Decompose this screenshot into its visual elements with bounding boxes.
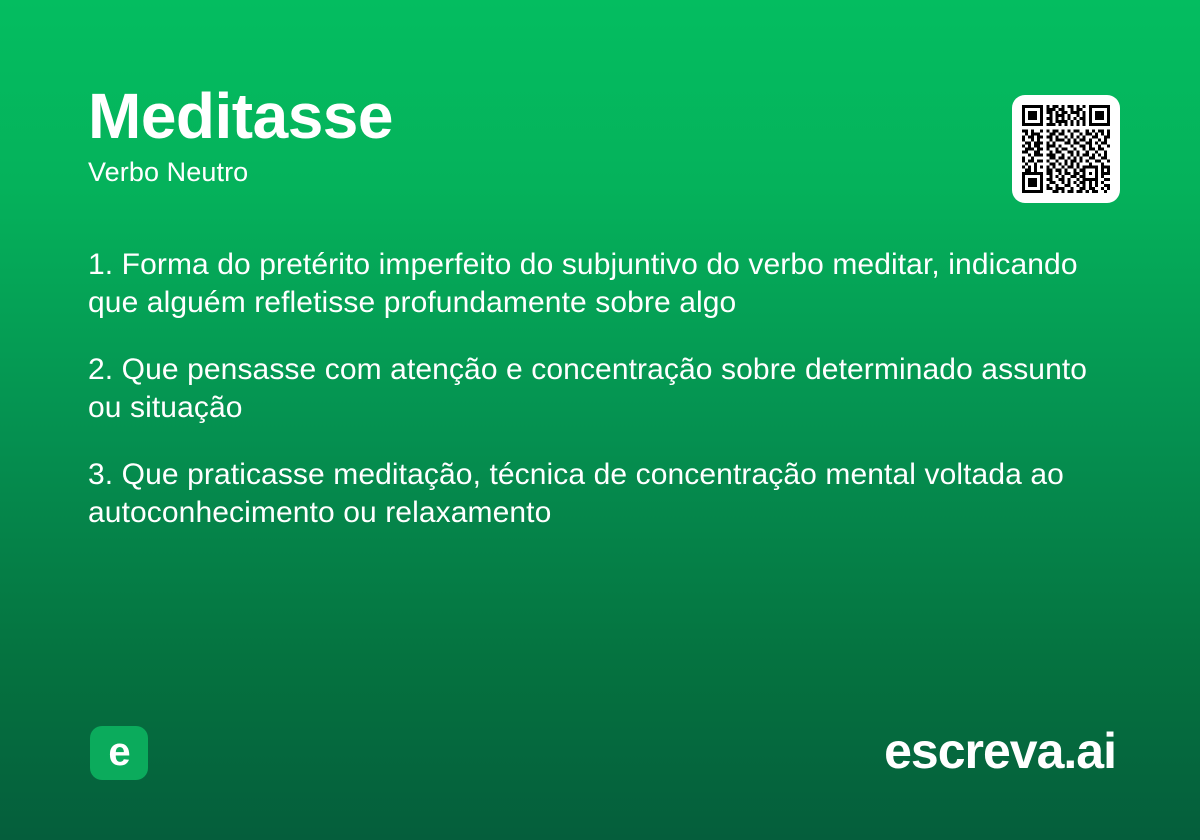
definition-item: 2. Que pensasse com atenção e concentraç… — [88, 351, 1108, 427]
word-definition-card: Meditasse Verbo Neutro — [0, 0, 1200, 840]
logo-letter: e — [108, 732, 129, 772]
page-title: Meditasse — [88, 82, 1112, 150]
definition-list: 1. Forma do pretérito imperfeito do subj… — [88, 246, 1108, 532]
card-header: Meditasse Verbo Neutro — [88, 82, 1112, 188]
definition-item: 3. Que praticasse meditação, técnica de … — [88, 456, 1108, 532]
brand-wordmark: escreva.ai — [884, 722, 1116, 780]
definition-item: 1. Forma do pretérito imperfeito do subj… — [88, 246, 1108, 322]
escreva-logo-badge: e — [90, 726, 148, 780]
word-class-label: Verbo Neutro — [88, 156, 1112, 188]
qr-code-icon — [1022, 105, 1110, 193]
qr-code[interactable] — [1012, 95, 1120, 203]
